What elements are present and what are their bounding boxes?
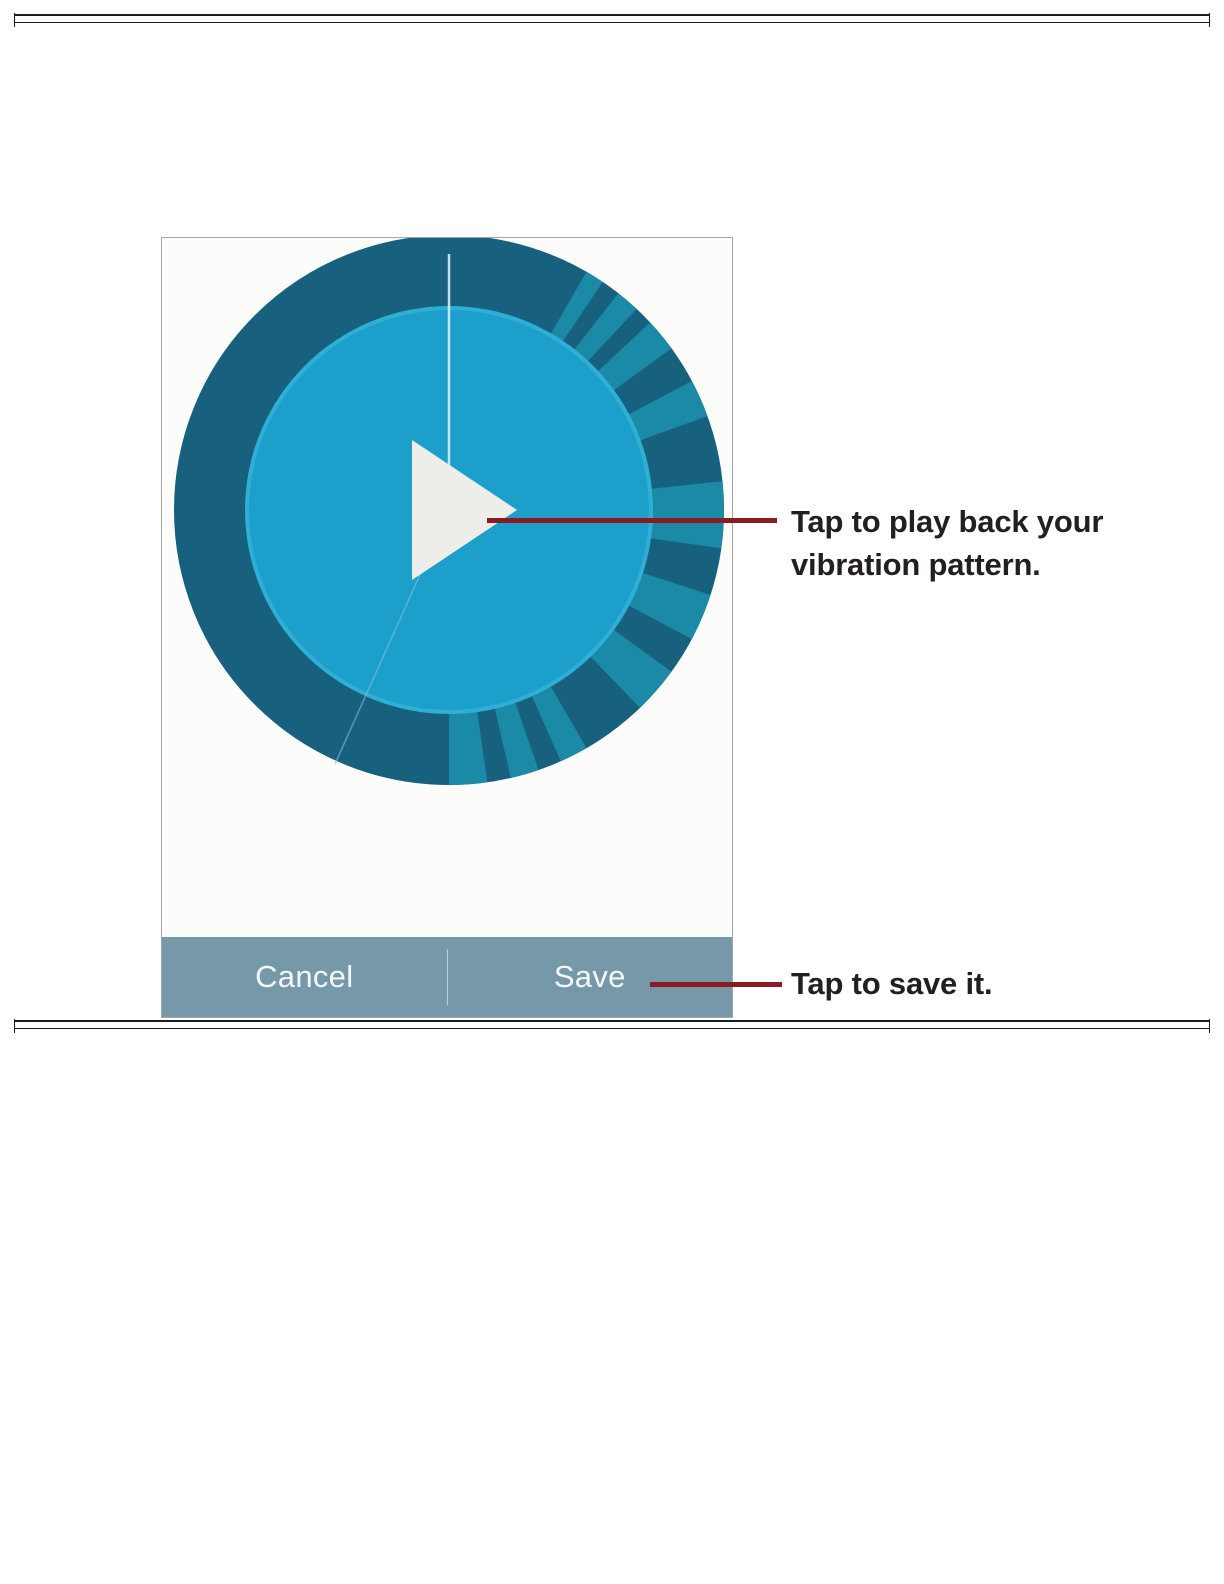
callout-save-text: Tap to save it. (791, 962, 1121, 1005)
phone-screen: Cancel Save (161, 237, 733, 1018)
leader-line-play (487, 518, 777, 523)
cancel-button[interactable]: Cancel (162, 937, 447, 1017)
callout-play-text: Tap to play back your vibration pattern. (791, 500, 1121, 586)
save-button[interactable]: Save (448, 937, 733, 1017)
leader-line-save (650, 982, 782, 987)
ring-pulse-segment (648, 481, 724, 548)
page-rule-top (14, 14, 1210, 23)
vibration-pattern-dial[interactable] (173, 237, 725, 786)
action-divider (447, 949, 448, 1005)
dial-area (162, 238, 732, 938)
action-bar: Cancel Save (162, 937, 732, 1017)
page-rule-bottom (14, 1020, 1210, 1029)
